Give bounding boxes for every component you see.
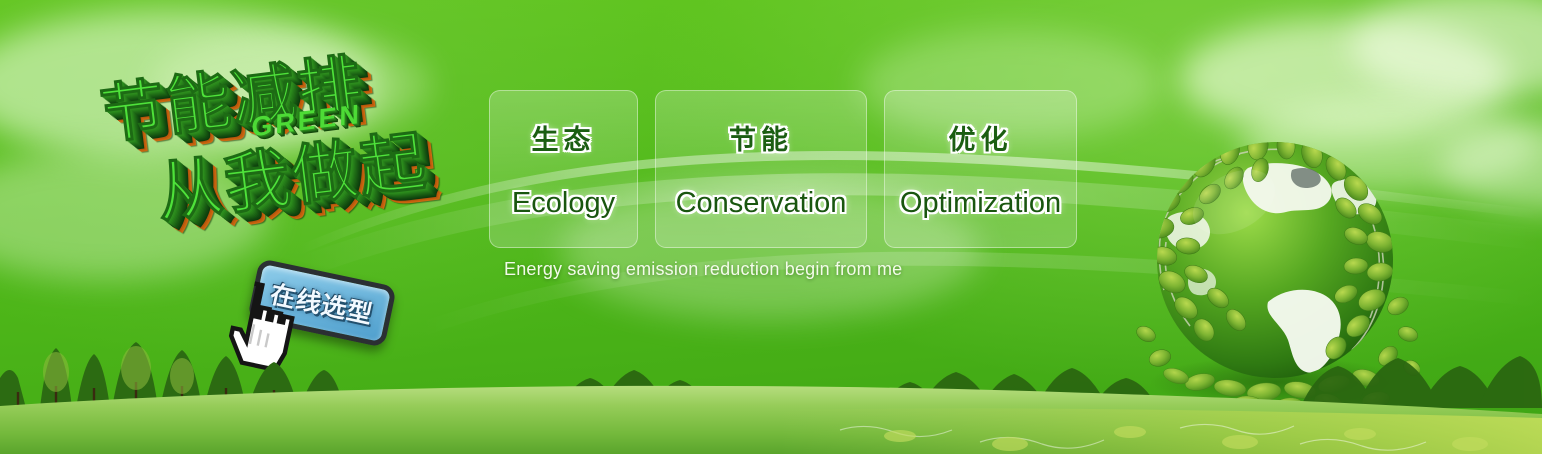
cloud-icon (0, 10, 380, 160)
ground-scene (0, 334, 1542, 454)
headline-english-overlay: GREEN (251, 99, 362, 144)
feature-card-ecology[interactable]: 生态 Ecology (489, 90, 638, 248)
feature-card-conservation[interactable]: 节能 Conservation (655, 90, 867, 248)
feature-card-cn-label: 生态 (532, 118, 596, 157)
headline-line-2: 从我做起 (150, 108, 432, 236)
feature-card-cn-label: 节能 (729, 118, 793, 157)
feature-card-en-label: Ecology (512, 187, 615, 220)
cloud-icon (1440, 120, 1542, 210)
cloud-icon (150, 30, 430, 140)
feature-card-list: 生态 Ecology 节能 Conservation 优化 Optimizati… (489, 90, 1077, 248)
feature-card-cn-label: 优化 (949, 118, 1013, 157)
cloud-icon (0, 150, 270, 280)
feature-card-en-label: Optimization (900, 187, 1061, 220)
grass-field-icon (0, 384, 1542, 454)
green-energy-banner: 节能减排 GREEN 从我做起 在线选型 生态 Ecology 节能 Conse… (0, 0, 1542, 454)
banner-tagline: Energy saving emission reduction begin f… (504, 259, 902, 280)
feature-card-en-label: Conservation (676, 187, 847, 220)
headline-line-1: 节能减排 (95, 33, 368, 156)
cloud-icon (1350, 0, 1542, 100)
headline-3d: 节能减排 GREEN 从我做起 (92, 14, 517, 291)
feature-card-optimization[interactable]: 优化 Optimization (884, 90, 1077, 248)
online-selection-button-label: 在线选型 (267, 275, 376, 332)
